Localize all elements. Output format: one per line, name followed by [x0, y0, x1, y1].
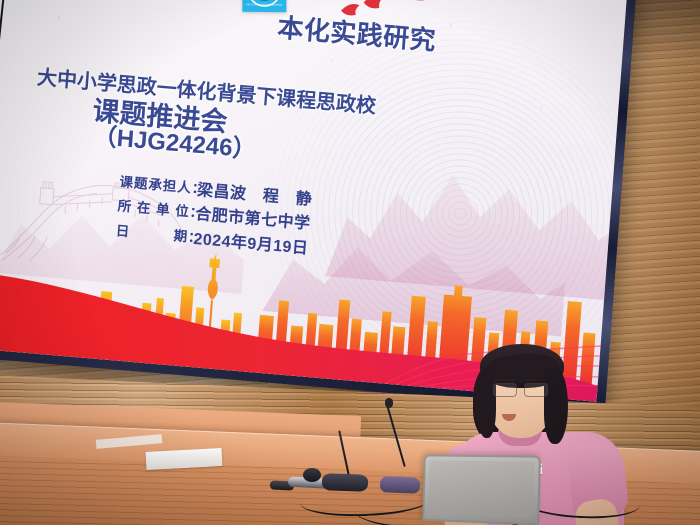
conference-room-photo: 合肥市第七中学 HEFEI NO.7 MIDDLE SCHOOL 本化实践研究 …: [0, 0, 700, 525]
eyebrow-right: [526, 379, 545, 381]
svg-text:HEFEI NO.7 MIDDLE SCHOOL: HEFEI NO.7 MIDDLE SCHOOL: [246, 2, 283, 6]
cable: [0, 0, 44, 46]
hair-side-right: [544, 368, 568, 444]
laptop: [422, 454, 541, 525]
microphone-head-2: [385, 398, 393, 408]
glasses-icon: [491, 383, 549, 395]
eyebrow-left: [495, 379, 514, 381]
lens-left: [493, 383, 517, 397]
laptop-screen-surface: [428, 460, 534, 519]
screen-surface: 合肥市第七中学 HEFEI NO.7 MIDDLE SCHOOL 本化实践研究 …: [0, 0, 627, 402]
microphone-head: [303, 468, 321, 482]
school-emblem-icon: 合肥市第七中学 HEFEI NO.7 MIDDLE SCHOOL: [245, 0, 283, 9]
hair-side-left: [476, 368, 496, 438]
lens-right: [524, 383, 548, 397]
